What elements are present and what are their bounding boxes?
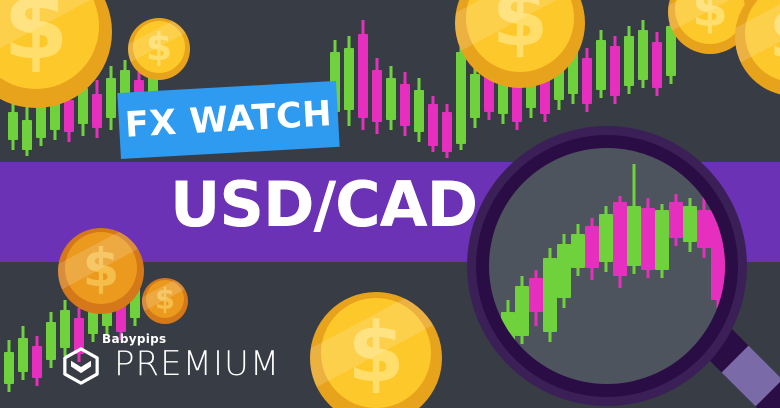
candlestick-body <box>624 36 634 86</box>
candlestick <box>613 196 627 288</box>
lens-candlestick-chart <box>489 148 725 384</box>
candlestick-wick <box>549 248 552 342</box>
candlestick-body <box>4 352 14 384</box>
candlestick-wick <box>647 198 650 278</box>
candlestick-body <box>344 48 354 110</box>
candlestick-body <box>610 46 620 96</box>
candlestick-body <box>36 104 46 138</box>
candlestick <box>652 32 662 96</box>
candlestick-body <box>596 40 606 90</box>
coin-highlight <box>128 18 190 80</box>
candlestick-wick <box>8 340 11 392</box>
candlestick-body <box>683 206 697 242</box>
logo-tier-text: PREMIUM <box>114 344 280 384</box>
candlestick-body <box>627 206 641 266</box>
candlestick-body <box>669 202 683 238</box>
fx-watch-label: FX WATCH <box>124 94 333 146</box>
candlestick <box>585 218 599 280</box>
candlestick-wick <box>675 194 678 246</box>
coin-highlight <box>142 278 188 324</box>
candlestick-wick <box>619 196 622 288</box>
coin-left-mid: $ <box>58 228 144 314</box>
candlestick-wick <box>418 78 421 142</box>
candlestick-body <box>46 322 56 360</box>
candlestick-body <box>515 286 529 336</box>
candlestick <box>543 248 557 342</box>
fx-watch-banner: FX WATCH <box>117 81 339 159</box>
candlestick-body <box>557 244 571 298</box>
candlestick-wick <box>110 66 113 130</box>
babypips-premium-logo: Babypips PREMIUM <box>62 330 262 390</box>
candlestick-body <box>428 104 438 146</box>
candlestick-wick <box>577 224 580 276</box>
candlestick-wick <box>36 336 39 386</box>
candlestick-body <box>106 78 116 118</box>
candlestick-body <box>442 112 452 152</box>
candlestick-body <box>582 58 592 104</box>
candlestick-wick <box>605 206 608 272</box>
candlestick <box>344 36 354 126</box>
candlestick <box>32 336 42 386</box>
candlestick <box>515 276 529 344</box>
candlestick-wick <box>628 26 631 94</box>
candlestick <box>428 96 438 152</box>
magnifier-lens <box>489 148 725 384</box>
magnifying-glass-icon <box>467 126 780 408</box>
candlestick <box>624 26 634 94</box>
candlestick-body <box>641 208 655 270</box>
candlestick-body <box>32 346 42 378</box>
candlestick-body <box>92 94 102 128</box>
candlestick <box>627 164 641 274</box>
candlestick-body <box>414 90 424 132</box>
candlestick <box>414 78 424 142</box>
candlestick <box>610 36 620 104</box>
candlestick-wick <box>432 96 435 152</box>
candlestick-body <box>697 210 711 248</box>
candlestick <box>557 234 571 308</box>
candlestick-wick <box>22 326 25 380</box>
coin-top-left-large: $ <box>0 0 112 108</box>
candlestick <box>582 48 592 112</box>
candlestick-wick <box>404 72 407 136</box>
coin-highlight <box>455 0 585 88</box>
coin-top-right-large: $ <box>735 0 780 96</box>
coin-highlight <box>0 0 112 108</box>
candlestick <box>372 58 382 134</box>
candlestick-wick <box>50 312 53 368</box>
candlestick-wick <box>586 48 589 112</box>
candlestick-wick <box>446 104 449 158</box>
coin-top-mid-large: $ <box>455 0 585 88</box>
coin-highlight <box>310 292 442 408</box>
candlestick <box>442 104 452 158</box>
candlestick <box>18 326 28 380</box>
candlestick-wick <box>600 30 603 98</box>
candlestick <box>8 98 18 150</box>
candlestick-wick <box>26 104 29 156</box>
candlestick-body <box>386 78 396 120</box>
candlestick-body <box>64 100 74 132</box>
candlestick-body <box>571 234 585 268</box>
candlestick-body <box>358 34 368 118</box>
coin-highlight <box>58 228 144 314</box>
candlestick-wick <box>689 198 692 252</box>
candlestick-wick <box>521 276 524 344</box>
candlestick-wick <box>535 270 538 326</box>
candlestick-wick <box>633 164 636 274</box>
coin-highlight <box>735 0 780 96</box>
coin-bottom-center: $ <box>310 292 442 408</box>
candlestick <box>683 198 697 252</box>
candlestick-wick <box>460 40 463 150</box>
cube-hexagon-icon <box>62 347 100 385</box>
candlestick-body <box>456 52 466 144</box>
candlestick-wick <box>376 58 379 134</box>
promo-graphic: $$$$$$$$ FX WATCH USD/CAD Babypips PREMI… <box>0 0 780 408</box>
candlestick <box>571 224 585 276</box>
candlestick <box>4 340 14 392</box>
candlestick-wick <box>591 218 594 280</box>
candlestick-body <box>613 202 627 276</box>
candlestick-body <box>18 338 28 372</box>
candlestick-wick <box>661 204 664 278</box>
candlestick-body <box>470 74 480 118</box>
candlestick-wick <box>348 36 351 126</box>
candlestick-wick <box>614 36 617 104</box>
candlestick-body <box>655 210 669 270</box>
candlestick-body <box>652 42 662 88</box>
candlestick-wick <box>656 32 659 96</box>
candlestick-wick <box>390 66 393 130</box>
candlestick <box>106 66 116 130</box>
candlestick-wick <box>563 234 566 308</box>
candlestick-wick <box>12 98 15 150</box>
candlestick-body <box>400 84 410 126</box>
coin-left-small: $ <box>142 278 188 324</box>
candlestick <box>358 20 368 130</box>
candlestick <box>641 198 655 278</box>
candlestick <box>596 30 606 98</box>
candlestick <box>655 204 669 278</box>
candlestick <box>400 72 410 136</box>
candlestick-wick <box>642 20 645 88</box>
candlestick-wick <box>362 20 365 130</box>
candlestick-body <box>543 258 557 332</box>
page-title: USD/CAD <box>170 168 477 241</box>
candlestick <box>599 206 613 272</box>
coin-top-left-small: $ <box>128 18 190 80</box>
candlestick-body <box>22 120 32 150</box>
candlestick-body <box>529 278 543 312</box>
candlestick-body <box>585 226 599 268</box>
candlestick-body <box>638 30 648 80</box>
candlestick-body <box>372 70 382 122</box>
candlestick-body <box>599 214 613 262</box>
candlestick <box>22 104 32 156</box>
candlestick <box>638 20 648 88</box>
candlestick-body <box>8 112 18 140</box>
candlestick <box>386 66 396 130</box>
candlestick <box>529 270 543 326</box>
candlestick <box>46 312 56 368</box>
candlestick <box>669 194 683 246</box>
